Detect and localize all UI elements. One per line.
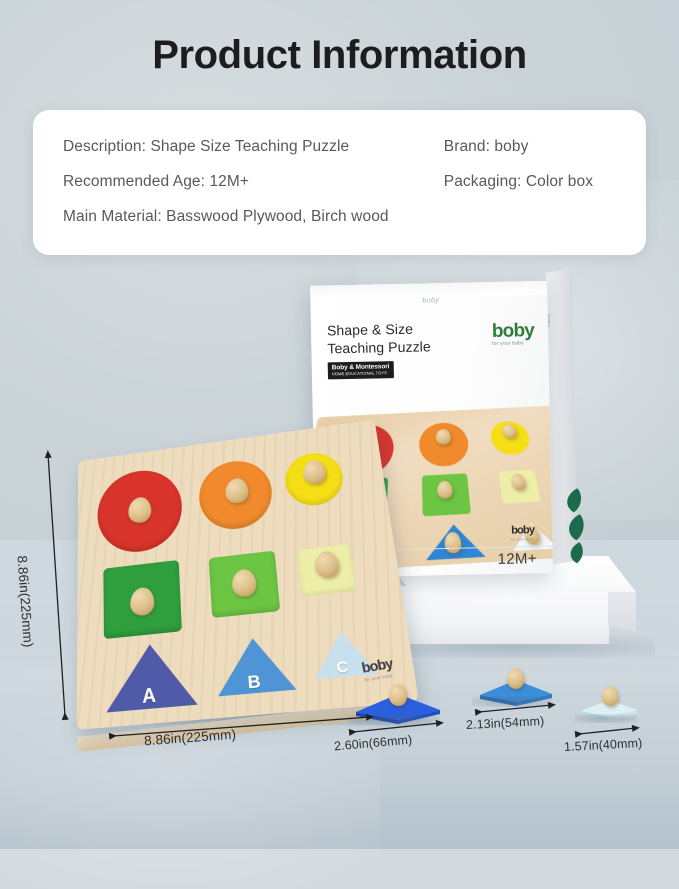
box-age-label: 12M+ (498, 550, 537, 568)
pedestal-front-face (383, 586, 609, 644)
page-title: Product Information (0, 33, 679, 78)
box-top-logo: boby (422, 297, 439, 304)
square-medium-green[interactable] (209, 551, 281, 618)
pedestal-side-face (608, 586, 636, 632)
info-main-material: Main Material: Basswood Plywood, Birch w… (63, 208, 444, 226)
info-recommended-age: Recommended Age: 12M+ (63, 173, 444, 191)
triangle-label-a: A (142, 685, 157, 709)
brand-tagline: for your baby (511, 538, 534, 542)
box-brand-logo: boby for your baby (492, 321, 535, 347)
knob-icon[interactable] (225, 477, 250, 505)
box-art-knob (436, 429, 452, 445)
box-art-knob (437, 481, 453, 500)
leaf-decoration-icon (557, 486, 585, 565)
brand-name: boby (511, 525, 534, 536)
square-large-green[interactable] (103, 560, 182, 639)
knob-icon[interactable] (602, 686, 618, 706)
box-title-line1: Shape & Size (327, 321, 413, 339)
knob-icon[interactable] (231, 568, 257, 598)
square-small-pale[interactable] (297, 544, 356, 597)
box-art-knob (501, 424, 517, 439)
knob-icon[interactable] (302, 459, 327, 486)
board-surface: A B C boby for your baby (77, 419, 419, 729)
box-art-square-lightgreen (422, 473, 471, 516)
badge-line-2: HOME EDUCATIONAL TOYS (332, 370, 390, 376)
box-title-line2: Teaching Puzzle (327, 338, 431, 356)
box-artwork-brand-logo: boby for your baby (511, 521, 535, 542)
knob-icon[interactable] (507, 668, 524, 689)
knob-icon[interactable] (128, 496, 152, 524)
brand-tagline: for your baby (492, 341, 534, 347)
product-info-card: Description: Shape Size Teaching Puzzle … (33, 110, 646, 255)
box-product-title: Shape & Size Teaching Puzzle (327, 319, 431, 357)
puzzle-board: A B C boby for your baby (70, 425, 392, 725)
dimension-arrow-height (44, 448, 74, 728)
box-art-knob (510, 473, 527, 490)
triangle-label-c: C (336, 658, 350, 677)
brand-name: boby (492, 321, 535, 341)
knob-icon[interactable] (389, 684, 407, 706)
knob-icon[interactable] (313, 550, 340, 579)
triangle-label-b: B (247, 671, 262, 694)
info-row: Description: Shape Size Teaching Puzzle … (63, 138, 616, 173)
info-packaging: Packaging: Color box (444, 173, 616, 191)
knob-icon[interactable] (130, 586, 155, 616)
info-brand: Brand: boby (444, 138, 616, 156)
info-row: Recommended Age: 12M+ Packaging: Color b… (63, 173, 616, 208)
info-description: Description: Shape Size Teaching Puzzle (63, 138, 444, 156)
montessori-badge: Boby & Montessori HOME EDUCATIONAL TOYS (328, 361, 394, 379)
board-brand-logo: boby for your baby (360, 655, 395, 683)
box-art-square-pale (498, 470, 541, 504)
info-row: Main Material: Basswood Plywood, Birch w… (63, 208, 616, 243)
